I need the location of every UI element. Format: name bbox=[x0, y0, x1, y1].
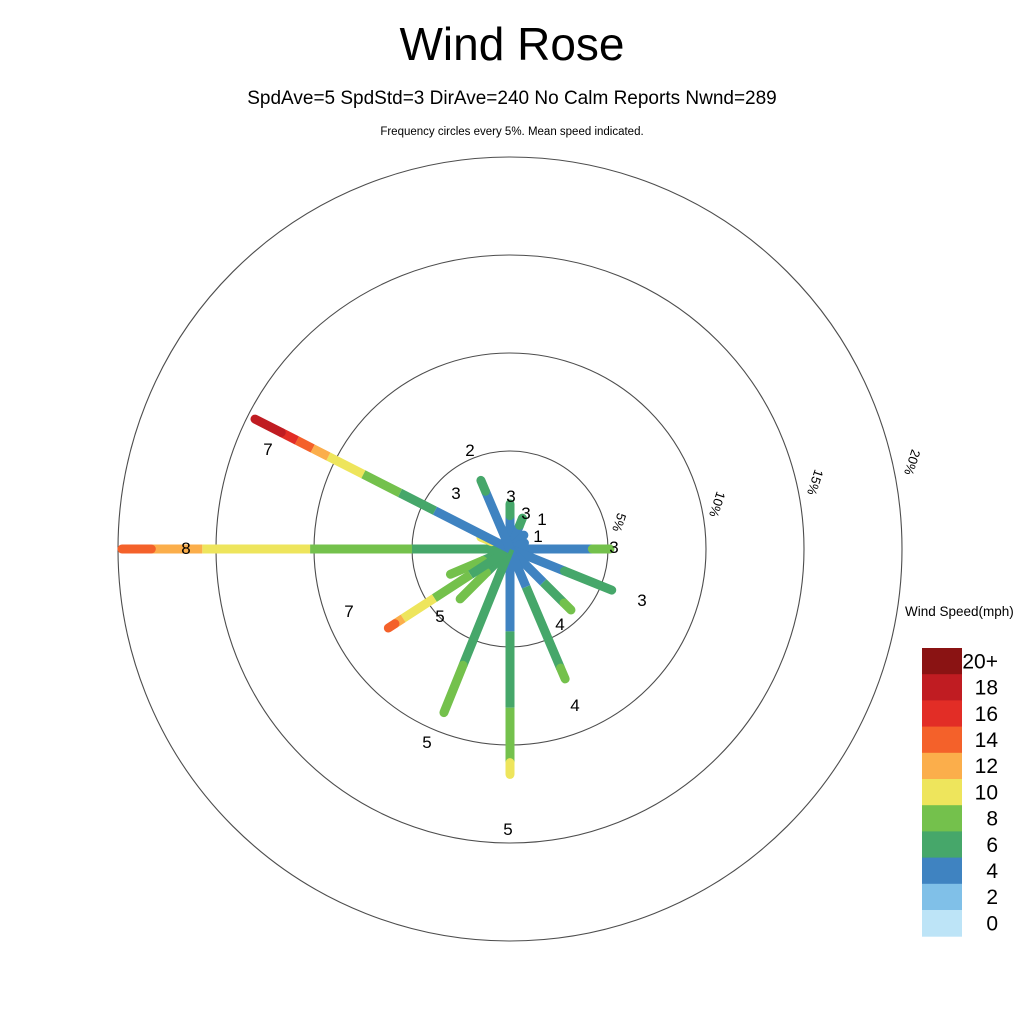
petal-mean-speed-label: 4 bbox=[570, 696, 579, 715]
frequency-note: Frequency circles every 5%. Mean speed i… bbox=[380, 126, 643, 138]
petal-mean-speed-label: 5 bbox=[422, 733, 431, 752]
ring-labels: 5% 10% 15% 20% bbox=[609, 448, 923, 534]
petal-mean-speed-label: 7 bbox=[344, 602, 353, 621]
petal-segment bbox=[403, 598, 434, 618]
petal-segment bbox=[328, 456, 363, 474]
page-title: Wind Rose bbox=[400, 18, 625, 70]
petal-mean-speed-label: 3 bbox=[521, 504, 530, 523]
petal-segment bbox=[444, 665, 463, 712]
petal-segment bbox=[388, 624, 395, 628]
legend-swatch[interactable] bbox=[922, 779, 962, 806]
petal-mean-speed-label: 8 bbox=[181, 539, 190, 558]
petal-segment bbox=[255, 419, 281, 432]
legend-swatch[interactable] bbox=[922, 884, 962, 911]
petal-segment bbox=[481, 480, 486, 491]
legend-label: 6 bbox=[986, 834, 998, 857]
wind-rose-petals bbox=[122, 419, 612, 774]
legend-label: 12 bbox=[975, 755, 998, 778]
legend-swatch[interactable] bbox=[922, 831, 962, 858]
wind-speed-legend[interactable]: 20+181614121086420 bbox=[922, 648, 998, 937]
petal-segment bbox=[313, 448, 329, 456]
wind-rose-figure: Wind Rose SpdAve=5 SpdStd=3 DirAve=240 N… bbox=[0, 0, 1024, 1024]
stats-line: SpdAve=5 SpdStd=3 DirAve=240 No Calm Rep… bbox=[247, 88, 777, 109]
legend-label: 20+ bbox=[962, 650, 998, 673]
ring-label-5: 5% bbox=[609, 511, 629, 534]
ring-label-15: 15% bbox=[804, 468, 826, 498]
petal-mean-speed-label: 5 bbox=[435, 607, 444, 626]
petal-mean-speed-label: 7 bbox=[263, 440, 272, 459]
petal-mean-speed-label: 3 bbox=[637, 591, 646, 610]
legend-label: 2 bbox=[986, 886, 998, 909]
legend-label: 10 bbox=[975, 781, 998, 804]
petal-mean-speed-label: 3 bbox=[506, 487, 515, 506]
ring-label-20: 20% bbox=[901, 448, 923, 478]
legend-label: 4 bbox=[986, 860, 998, 883]
legend-swatch[interactable] bbox=[922, 700, 962, 727]
petal-mean-speed-label: 3 bbox=[451, 484, 460, 503]
legend-label: 8 bbox=[986, 808, 998, 831]
legend-swatch[interactable] bbox=[922, 648, 962, 675]
petal-segment bbox=[400, 493, 435, 511]
petal-mean-speed-label: 1 bbox=[533, 527, 542, 546]
legend-swatch[interactable] bbox=[922, 727, 962, 754]
legend-label: 0 bbox=[986, 912, 998, 935]
ring-label-10: 10% bbox=[706, 490, 728, 520]
petal-segment bbox=[363, 474, 400, 493]
legend-swatch[interactable] bbox=[922, 858, 962, 885]
petal-mean-speed-label: 5 bbox=[503, 820, 512, 839]
legend-label: 18 bbox=[975, 677, 998, 700]
legend-title: Wind Speed(mph) bbox=[905, 604, 1014, 619]
petal-segment bbox=[561, 668, 566, 679]
petal-mean-speed-label: 3 bbox=[609, 538, 618, 557]
petal-mean-speed-label: 2 bbox=[465, 441, 474, 460]
legend-label: 14 bbox=[975, 729, 999, 752]
petal-mean-speed-label: 4 bbox=[555, 615, 564, 634]
legend-swatch[interactable] bbox=[922, 910, 962, 937]
petal-segment bbox=[297, 440, 313, 448]
legend-swatch[interactable] bbox=[922, 674, 962, 701]
legend-swatch[interactable] bbox=[922, 753, 962, 780]
petal-segment bbox=[564, 603, 571, 610]
legend-label: 16 bbox=[975, 703, 998, 726]
wind-rose-page: Wind Rose SpdAve=5 SpdStd=3 DirAve=240 N… bbox=[0, 0, 1024, 1024]
legend-swatch[interactable] bbox=[922, 805, 962, 832]
